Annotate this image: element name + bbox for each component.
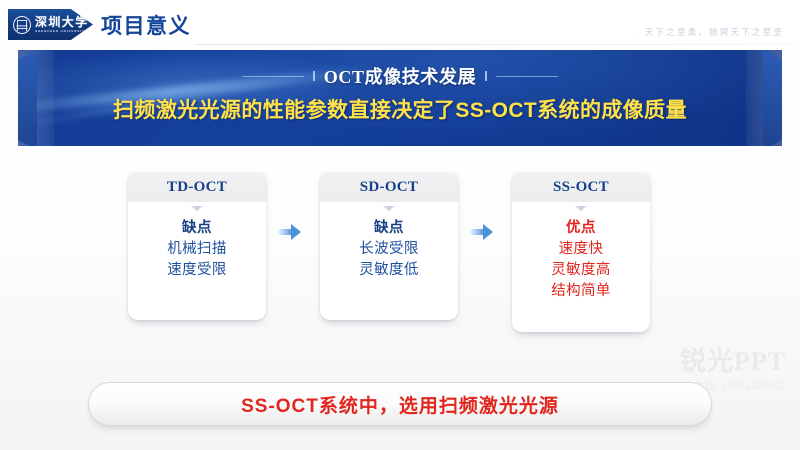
logo-name-cn: 深圳大学 bbox=[35, 16, 89, 28]
flow-arrow-1-icon bbox=[278, 224, 302, 240]
list-item: 灵敏度高 bbox=[512, 260, 650, 281]
banner-section: OCT成像技术发展 扫频激光光源的性能参数直接决定了SS-OCT系统的成像质量 bbox=[0, 48, 800, 150]
card-kind-td-oct: 缺点 bbox=[128, 216, 266, 237]
banner-rule-right bbox=[496, 76, 558, 77]
slide-header: 深圳大学 SHENZHEN UNIVERSITY 项目意义 天下之至柔，驰骋天下… bbox=[0, 0, 800, 50]
header-motto: 天下之至柔，驰骋天下之至坚 bbox=[645, 26, 784, 38]
banner-title-row: OCT成像技术发展 bbox=[18, 63, 782, 89]
list-item: 速度受限 bbox=[128, 260, 266, 281]
logo-name-en: SHENZHEN UNIVERSITY bbox=[35, 30, 89, 33]
card-header-ss-oct: SS-OCT bbox=[512, 172, 650, 202]
card-body-sd-oct: 缺点 长波受限 灵敏度低 bbox=[320, 211, 458, 281]
card-header-td-oct: TD-OCT bbox=[128, 172, 266, 202]
slide-canvas: 深圳大学 SHENZHEN UNIVERSITY 项目意义 天下之至柔，驰骋天下… bbox=[0, 0, 800, 450]
card-header-sd-oct: SD-OCT bbox=[320, 172, 458, 202]
card-td-oct[interactable]: TD-OCT 缺点 机械扫描 速度受限 bbox=[128, 172, 266, 320]
conclusion-banner: SS-OCT系统中，选用扫频激光光源 bbox=[88, 382, 712, 426]
card-title-sd-oct: SD-OCT bbox=[360, 179, 418, 196]
oct-comparison-cards: TD-OCT 缺点 机械扫描 速度受限 SD-OCT 缺点 长波受限 灵敏度低 bbox=[0, 172, 800, 332]
card-title-ss-oct: SS-OCT bbox=[553, 179, 609, 196]
header-divider bbox=[196, 44, 792, 45]
page-title: 项目意义 bbox=[101, 10, 191, 40]
card-body-td-oct: 缺点 机械扫描 速度受限 bbox=[128, 211, 266, 281]
list-item: 速度快 bbox=[512, 239, 650, 260]
list-item: 长波受限 bbox=[320, 239, 458, 260]
card-kind-sd-oct: 缺点 bbox=[320, 216, 458, 237]
card-body-ss-oct: 优点 速度快 灵敏度高 结构简单 bbox=[512, 211, 650, 302]
university-logo: 深圳大学 SHENZHEN UNIVERSITY bbox=[8, 9, 93, 40]
university-seal-icon bbox=[13, 16, 31, 34]
list-item: 机械扫描 bbox=[128, 239, 266, 260]
card-title-td-oct: TD-OCT bbox=[167, 179, 227, 196]
banner-panel: OCT成像技术发展 扫频激光光源的性能参数直接决定了SS-OCT系统的成像质量 bbox=[18, 50, 782, 146]
banner-tick-left-icon bbox=[313, 71, 315, 81]
logo-text-block: 深圳大学 SHENZHEN UNIVERSITY bbox=[35, 16, 89, 34]
flow-arrow-2-icon bbox=[470, 224, 494, 240]
conclusion-text: SS-OCT系统中，选用扫频激光光源 bbox=[241, 391, 559, 418]
watermark-brand: 锐光PPT bbox=[680, 349, 786, 375]
card-kind-ss-oct: 优点 bbox=[512, 216, 650, 237]
card-ss-oct[interactable]: SS-OCT 优点 速度快 灵敏度高 结构简单 bbox=[512, 172, 650, 332]
list-item: 灵敏度低 bbox=[320, 260, 458, 281]
arrow-head bbox=[291, 224, 301, 240]
banner-rule-left bbox=[242, 76, 304, 77]
banner-title-sub: 扫频激光光源的性能参数直接决定了SS-OCT系统的成像质量 bbox=[18, 94, 782, 124]
list-item: 结构简单 bbox=[512, 281, 650, 302]
banner-tick-right-icon bbox=[485, 71, 487, 81]
banner-title-main: OCT成像技术发展 bbox=[324, 63, 476, 89]
card-sd-oct[interactable]: SD-OCT 缺点 长波受限 灵敏度低 bbox=[320, 172, 458, 320]
arrow-head bbox=[483, 224, 493, 240]
